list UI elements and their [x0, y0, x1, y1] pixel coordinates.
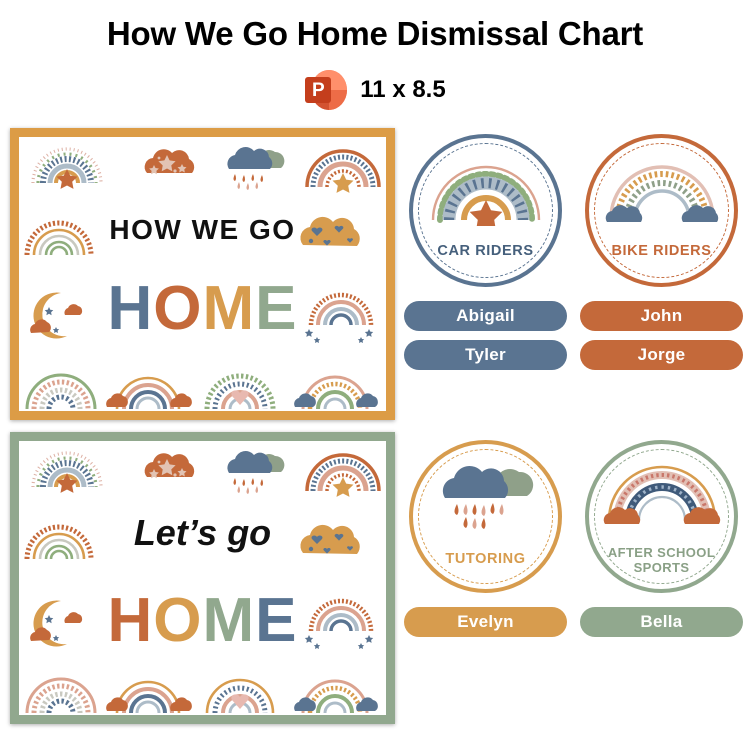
rainbow-orange-clouds-icon	[603, 462, 721, 528]
page-title: How We Go Home Dismissal Chart	[0, 14, 750, 54]
badge-label-line1: AFTER SCHOOL	[608, 545, 715, 560]
content-area: HOW WE GO HOME	[0, 128, 750, 750]
slide-2-home-letter-m: M	[203, 586, 256, 655]
badge-group-tutoring: TUTORING Evelyn	[402, 440, 569, 646]
slide-2-home-word: HOME	[19, 589, 386, 653]
rainbow-star-icon	[427, 160, 545, 226]
name-list-tutoring: Evelyn	[402, 607, 569, 637]
name-pill[interactable]: Jorge	[580, 340, 743, 370]
file-meta-row: P 11 x 8.5	[0, 68, 750, 112]
slide-1-line1: HOW WE GO	[19, 215, 386, 245]
name-list-car-riders: Abigail Tyler	[402, 301, 569, 370]
name-pill[interactable]: Bella	[580, 607, 743, 637]
slide-2-home-letter-h: H	[107, 586, 153, 655]
slide-1-home-letter-h: H	[107, 274, 153, 343]
name-pill[interactable]: Abigail	[404, 301, 567, 331]
badge-bike-riders[interactable]: BIKE RIDERS	[585, 134, 738, 287]
dimensions-label: 11 x 8.5	[360, 76, 445, 104]
slide-1-home-letter-m: M	[203, 274, 256, 343]
slide-2-home-letter-e: E	[255, 586, 297, 655]
name-pill[interactable]: Tyler	[404, 340, 567, 370]
powerpoint-icon-letter: P	[305, 77, 331, 103]
powerpoint-icon: P	[304, 70, 347, 110]
slide-thumbnail-2[interactable]: Let’s go HOME	[10, 432, 395, 724]
slide-1-home-letter-o: O	[153, 274, 202, 343]
badge-tutoring[interactable]: TUTORING	[409, 440, 562, 593]
badge-after-school-sports[interactable]: AFTER SCHOOL SPORTS	[585, 440, 738, 593]
slide-2-canvas: Let’s go HOME	[19, 441, 386, 715]
rain-cloud-icon	[427, 462, 545, 534]
slide-thumbnail-1[interactable]: HOW WE GO HOME	[10, 128, 395, 420]
slide-2-line1: Let’s go	[19, 513, 386, 553]
badge-group-bike-riders: BIKE RIDERS John Jorge	[578, 134, 745, 379]
rainbow-clouds-icon	[603, 160, 721, 226]
powerpoint-icon-quad-br	[329, 90, 347, 110]
badge-label-car-riders: CAR RIDERS	[417, 244, 554, 259]
badge-label-tutoring: TUTORING	[417, 552, 554, 567]
badge-group-car-riders: CAR RIDERS Abigail Tyler	[402, 134, 569, 379]
slide-1-home-word: HOME	[19, 277, 386, 341]
slide-1-canvas: HOW WE GO HOME	[19, 137, 386, 411]
badge-label-after-school-sports: AFTER SCHOOL SPORTS	[593, 545, 730, 575]
slide-1-home-letter-e: E	[255, 274, 297, 343]
badge-label-bike-riders: BIKE RIDERS	[593, 244, 730, 259]
badge-car-riders[interactable]: CAR RIDERS	[409, 134, 562, 287]
powerpoint-icon-quad-tr	[329, 70, 347, 90]
name-pill[interactable]: Evelyn	[404, 607, 567, 637]
slide-2-decorations	[19, 441, 386, 715]
badge-label-line2: SPORTS	[634, 560, 690, 575]
name-list-after-school-sports: Bella	[578, 607, 745, 637]
header: How We Go Home Dismissal Chart P 11 x 8.…	[0, 0, 750, 112]
badge-group-after-school-sports: AFTER SCHOOL SPORTS Bella	[578, 440, 745, 646]
name-list-bike-riders: John Jorge	[578, 301, 745, 370]
name-pill[interactable]: John	[580, 301, 743, 331]
slide-2-home-letter-o: O	[153, 586, 202, 655]
